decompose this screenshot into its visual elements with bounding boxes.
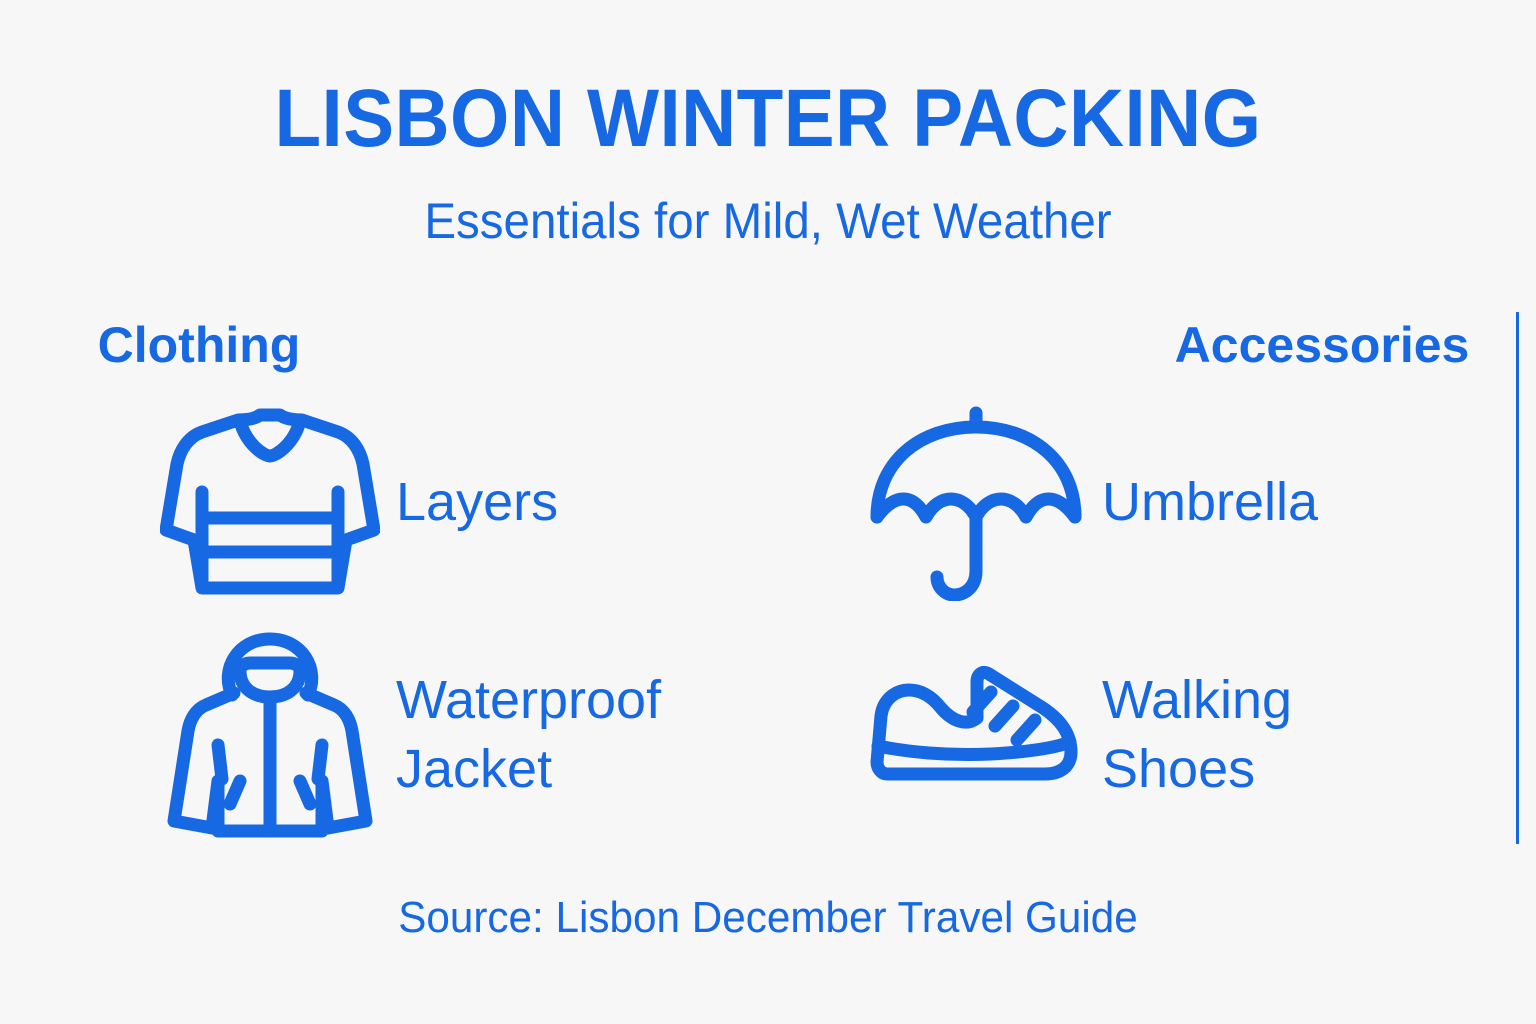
list-item: Umbrella — [856, 398, 1536, 608]
source-attribution: Source: Lisbon December Travel Guide — [31, 896, 1506, 940]
item-list-accessories: Umbrella Walking Shoes — [856, 398, 1536, 862]
footer: Source: Lisbon December Travel Guide — [0, 896, 1536, 940]
item-label: Layers — [396, 468, 558, 537]
header: LISBON WINTER PACKING Essentials for Mil… — [0, 78, 1536, 246]
item-label: Walking Shoes — [1102, 666, 1292, 804]
hooded-jacket-icon — [150, 630, 390, 840]
item-label: Umbrella — [1102, 468, 1318, 537]
column-heading-clothing: Clothing — [0, 312, 768, 370]
column-accessories: Accessories Umbrella — [768, 312, 1536, 852]
item-label: Waterproof Jacket — [396, 666, 661, 804]
umbrella-icon — [856, 398, 1096, 608]
page-subtitle: Essentials for Mild, Wet Weather — [38, 196, 1497, 246]
list-item: Walking Shoes — [856, 630, 1536, 840]
infographic-canvas: LISBON WINTER PACKING Essentials for Mil… — [0, 0, 1536, 1024]
columns-container: Clothing Layers — [0, 312, 1536, 852]
page-title: LISBON WINTER PACKING — [54, 78, 1482, 160]
column-clothing: Clothing Layers — [0, 312, 768, 852]
sneaker-icon — [856, 630, 1096, 840]
column-heading-accessories: Accessories — [768, 312, 1536, 370]
sweater-icon — [150, 398, 390, 608]
